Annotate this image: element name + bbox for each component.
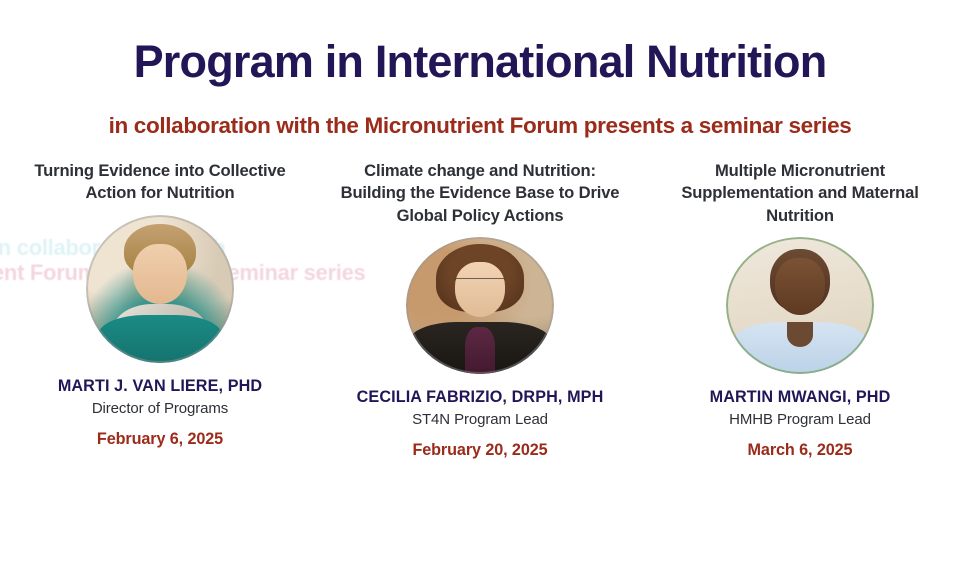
page-subtitle: in collaboration with the Micronutrient …: [0, 114, 960, 139]
footer: CORNELL UNIVERSITY FOUNDED A.D. 1865: [0, 470, 960, 582]
speaker-avatar-2: [406, 237, 554, 374]
speaker-role: ST4N Program Lead: [412, 411, 548, 428]
speaker-name: CECILIA FABRIZIO, DRPH, MPH: [357, 388, 604, 407]
martin-mwangi-photo: [726, 237, 874, 374]
marti-van-liere-photo: [86, 215, 234, 363]
session-column-2: Climate change and Nutrition: Building t…: [320, 160, 640, 460]
speaker-avatar-3: [726, 237, 874, 374]
speaker-role: Director of Programs: [92, 400, 228, 417]
session-column-3: Multiple Micronutrient Supplementation a…: [640, 160, 960, 460]
cecilia-fabrizio-photo: [406, 237, 554, 374]
talk-title: Turning Evidence into Collective Action …: [19, 160, 301, 205]
session-date: February 20, 2025: [412, 441, 547, 460]
session-date: February 6, 2025: [97, 430, 223, 449]
speaker-role: HMHB Program Lead: [729, 411, 871, 428]
session-column-1: Turning Evidence into Collective Action …: [0, 160, 320, 460]
speaker-name: MARTIN MWANGI, PHD: [710, 388, 891, 407]
seminar-poster: Program in International Nutrition in co…: [0, 0, 960, 582]
talk-title: Multiple Micronutrient Supplementation a…: [659, 160, 941, 227]
session-date: March 6, 2025: [748, 441, 853, 460]
speaker-avatar-1: [86, 215, 234, 363]
page-title: Program in International Nutrition: [0, 38, 960, 86]
speaker-name: MARTI J. VAN LIERE, PHD: [58, 377, 262, 396]
talk-title: Climate change and Nutrition: Building t…: [339, 160, 621, 227]
sessions-row: Turning Evidence into Collective Action …: [0, 160, 960, 460]
